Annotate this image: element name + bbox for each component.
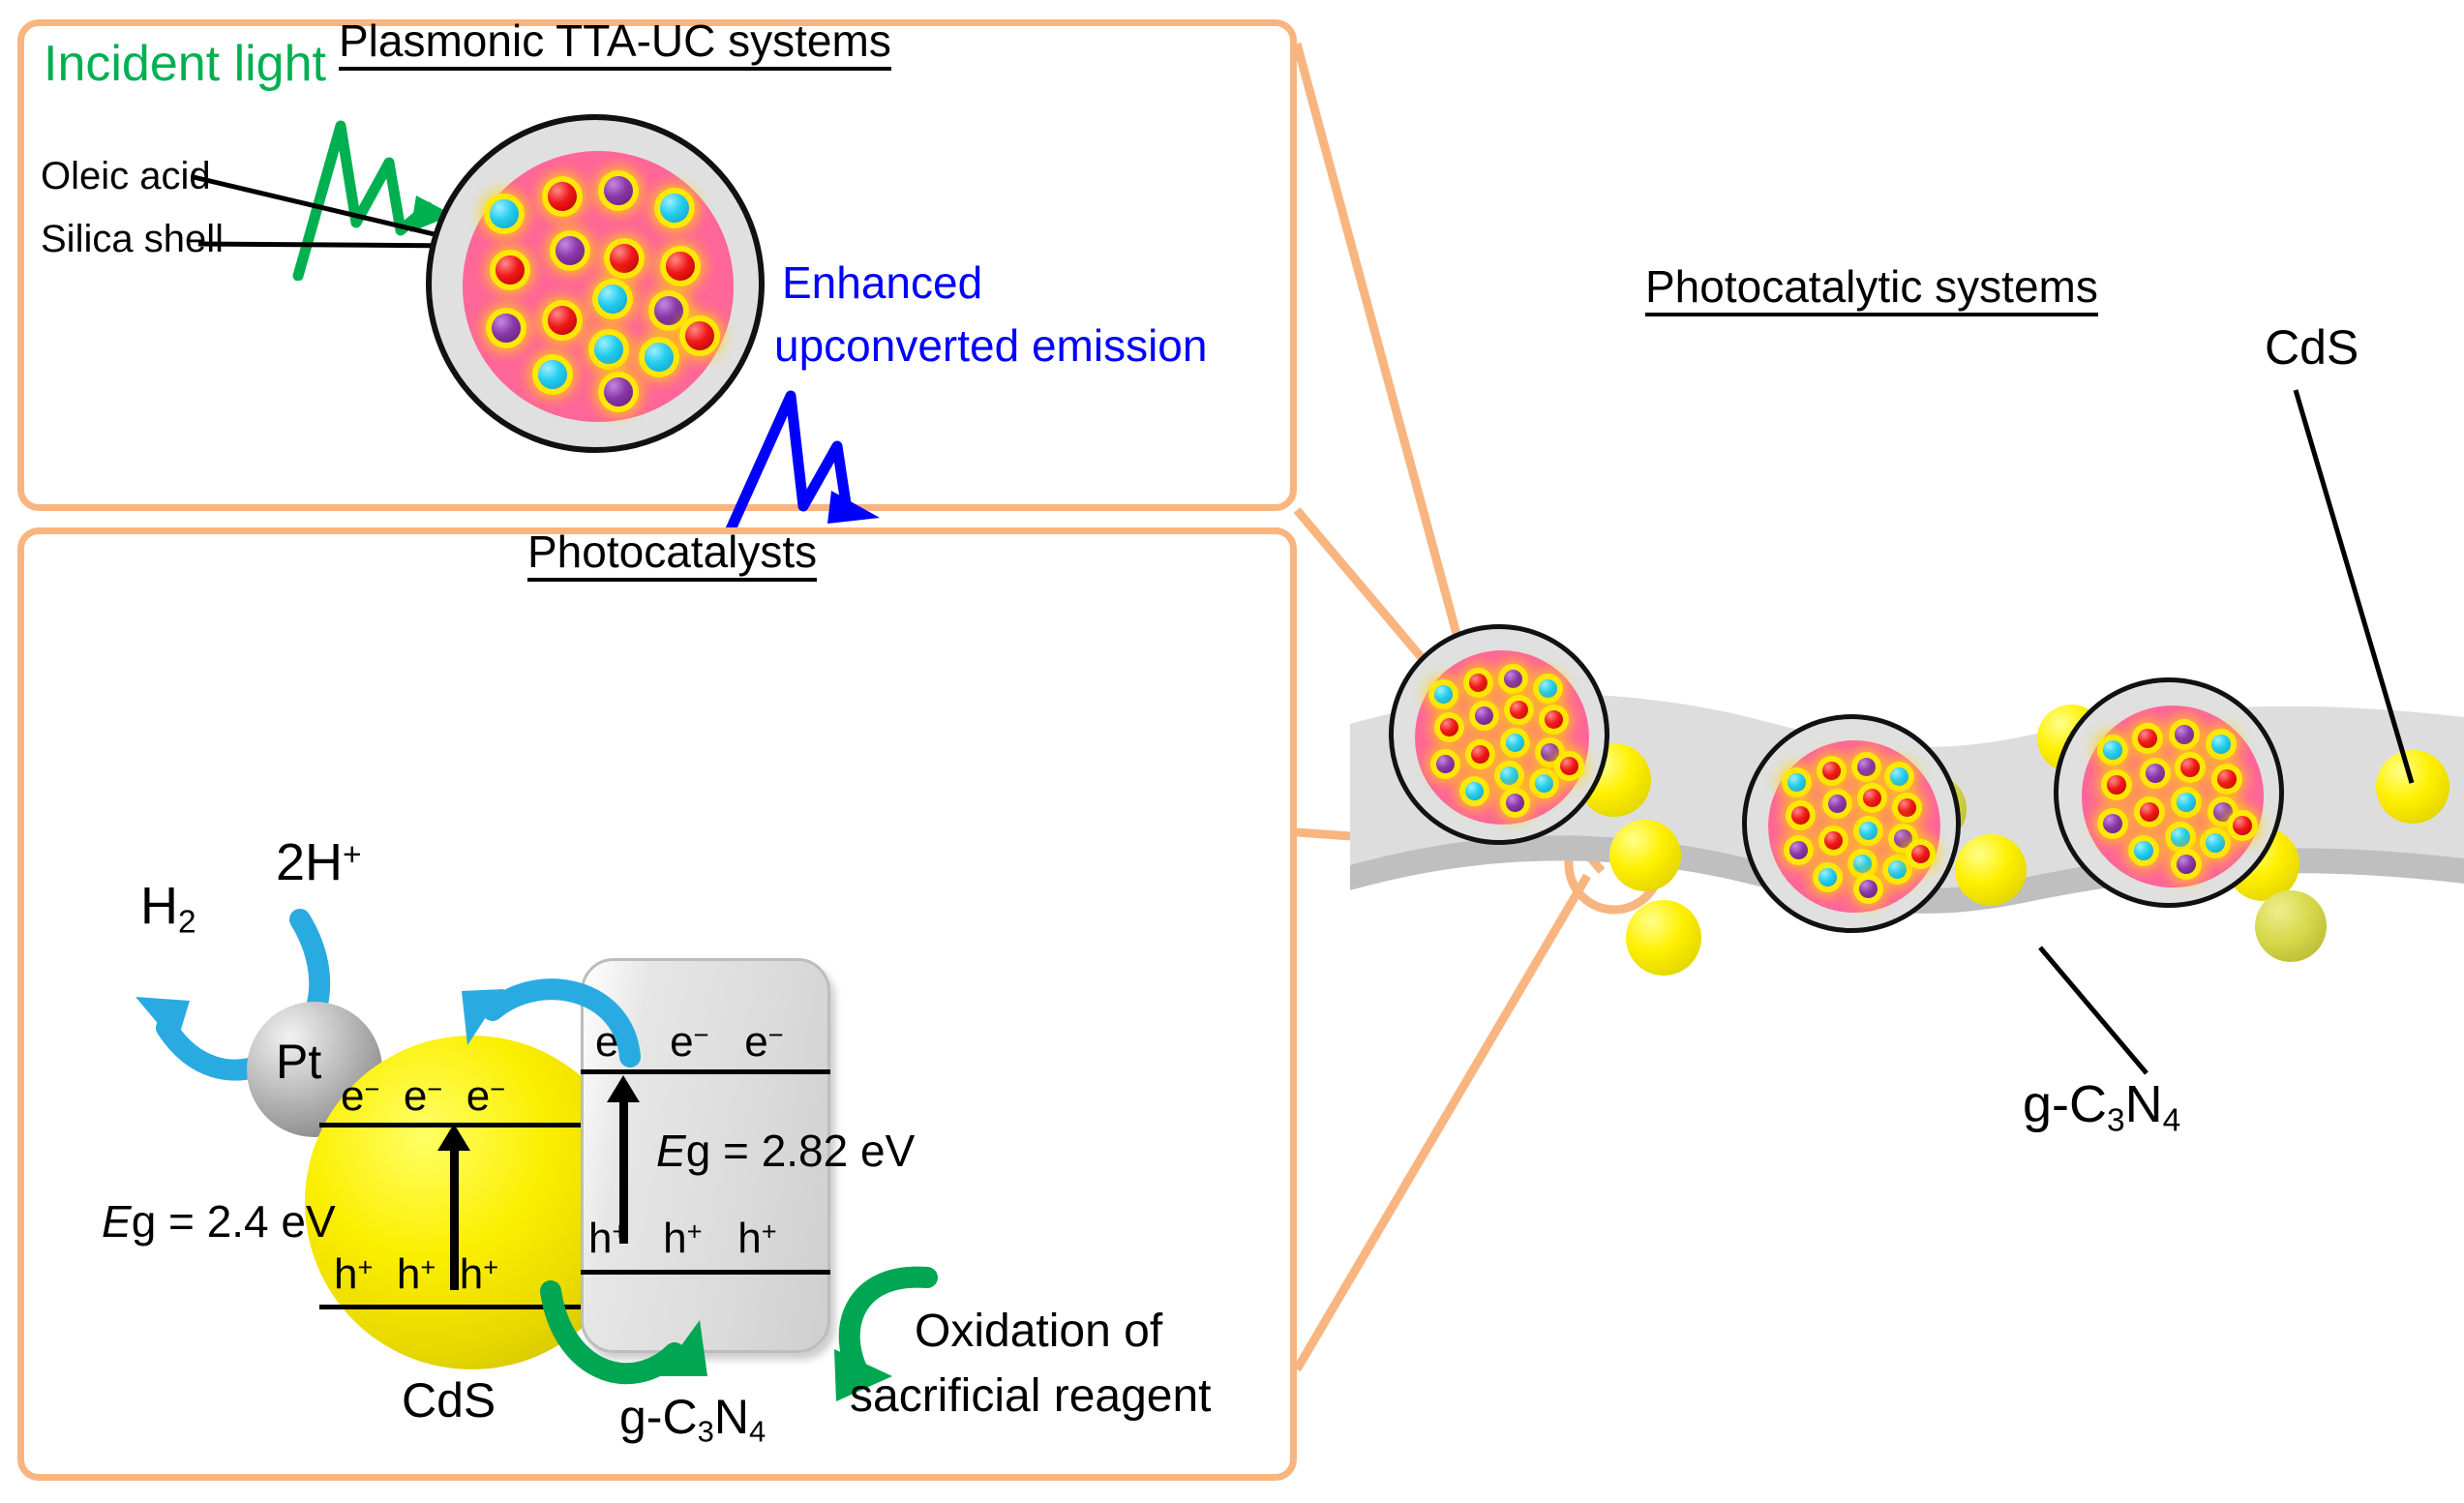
- dpa-dot: [1853, 855, 1872, 873]
- nanoparticle-core: [463, 151, 734, 422]
- ptoep-dot: [2180, 758, 2200, 777]
- proton-coefficient: 2H: [276, 833, 343, 891]
- gold-dot: [1506, 794, 1524, 812]
- ptoep-dot: [1824, 831, 1843, 850]
- ptoep-dot: [1911, 845, 1930, 863]
- dpa-dot: [2206, 833, 2225, 853]
- dpa-dot: [490, 199, 519, 228]
- cds-bandgap-label: Eg = 2.4 eV: [102, 1195, 336, 1247]
- oxidation-line1: Oxidation of: [915, 1305, 1162, 1358]
- ptoep-dot: [1469, 674, 1487, 692]
- ptoep-dot: [1560, 757, 1578, 775]
- nanoparticle-core: [2082, 706, 2264, 887]
- dpa-dot: [2211, 735, 2231, 754]
- dpa-dot: [1890, 767, 1908, 786]
- gold-dot: [1857, 758, 1876, 776]
- dpa-dot: [1434, 685, 1453, 704]
- gcn-callout-leader: [2032, 944, 2226, 1079]
- cds-callout-label: CdS: [2265, 319, 2359, 376]
- dpa-dot: [1535, 774, 1553, 793]
- figure-canvas: Plasmonic TTA-UC systems Incident light …: [0, 0, 2464, 1503]
- gold-dot: [604, 377, 633, 406]
- electron-symbol: e: [404, 1072, 427, 1120]
- gold-dot: [1894, 829, 1912, 848]
- silica-nanoparticle-sheet-1: [1389, 624, 1609, 845]
- dpa-dot: [2103, 740, 2122, 760]
- panel-title-photocatalytic-systems: Photocatalytic systems: [1645, 263, 2098, 316]
- gcn-callout-label: g-C3N4: [2023, 1074, 2180, 1139]
- gold-dot: [1436, 755, 1455, 773]
- hole-symbol: h: [737, 1215, 761, 1262]
- dpa-dot: [538, 360, 567, 389]
- proton-label: 2H+: [276, 832, 362, 892]
- dpa-dot: [660, 194, 689, 223]
- ptoep-dot: [2138, 729, 2157, 748]
- gold-dot: [1859, 880, 1878, 898]
- gold-dot: [2175, 725, 2194, 744]
- electron-symbol: e: [670, 1018, 693, 1066]
- dpa-dot: [645, 343, 674, 372]
- dpa-dot: [1465, 782, 1484, 800]
- ptoep-dot: [1791, 806, 1810, 825]
- proton-superscript: +: [343, 837, 362, 873]
- gold-dot: [654, 296, 683, 325]
- enhanced-emission-line1: Enhanced: [782, 256, 982, 309]
- cds-sphere-label: CdS: [402, 1372, 496, 1428]
- ptoep-dot: [1898, 798, 1916, 817]
- gold-dot: [556, 236, 585, 265]
- ptoep-dot: [2217, 769, 2237, 789]
- cds-bandgap-arrow: [450, 1147, 459, 1290]
- gcn-valence-band: [581, 1270, 830, 1275]
- silica-nanoparticle-sheet-2: [1742, 714, 1961, 933]
- cds-callout-leader: [2284, 382, 2458, 789]
- ptoep-dot: [548, 306, 577, 335]
- ptoep-dot: [1471, 745, 1489, 764]
- gold-dot: [2177, 855, 2196, 874]
- electron-transfer-arrows: [440, 948, 673, 1094]
- ptoep-dot: [2107, 775, 2126, 795]
- dpa-dot: [594, 335, 623, 364]
- ptoep-dot: [2233, 816, 2252, 835]
- gold-dot: [1475, 706, 1493, 725]
- enhanced-emission-line2: upconverted emission: [774, 319, 1207, 372]
- hole-symbol: h: [397, 1250, 420, 1298]
- cds-particle: [1609, 820, 1681, 891]
- incident-light-label: Incident light: [44, 35, 326, 93]
- ptoep-dot: [1440, 718, 1458, 736]
- dpa-dot: [1888, 860, 1907, 879]
- ptoep-dot: [496, 256, 525, 285]
- ptoep-dot: [685, 321, 714, 350]
- gold-dot: [492, 314, 521, 343]
- hole-symbol: h: [663, 1215, 686, 1262]
- ptoep-dot: [1510, 701, 1528, 719]
- gcn-bandgap-arrow: [619, 1098, 628, 1244]
- ptoep-dot: [1822, 762, 1841, 780]
- nanoparticle-core: [1768, 740, 1940, 913]
- dpa-dot: [2134, 841, 2153, 860]
- dpa-dot: [1500, 767, 1518, 785]
- cds-particle: [1626, 900, 1701, 976]
- dpa-dot: [1539, 679, 1557, 698]
- hole-symbol: h: [460, 1250, 483, 1298]
- gold-dot: [2213, 802, 2233, 822]
- upconverted-emission-arrow: [721, 382, 915, 542]
- nanoparticle-core: [1415, 650, 1589, 825]
- cds-particle: [2255, 890, 2327, 962]
- ptoep-dot: [548, 182, 577, 211]
- panel-title-tta-uc: Plasmonic TTA-UC systems: [339, 17, 891, 71]
- gcn-hole-row: h+ h+ h+: [588, 1215, 777, 1263]
- platinum-label: Pt: [276, 1034, 321, 1090]
- gold-dot: [2103, 814, 2122, 833]
- silica-nanoparticle-sheet-3: [2054, 677, 2284, 908]
- panel-title-photocatalysts: Photocatalysts: [527, 528, 817, 582]
- gold-dot: [604, 176, 633, 205]
- dpa-dot: [1859, 822, 1878, 840]
- gold-dot: [1504, 670, 1522, 688]
- cds-particle: [1955, 834, 2027, 906]
- dpa-dot: [1506, 734, 1524, 752]
- gcn-bandgap-label: Eg = 2.82 eV: [656, 1125, 915, 1177]
- electron-symbol: e: [744, 1018, 767, 1066]
- gold-dot: [1828, 795, 1847, 813]
- ptoep-dot: [666, 252, 695, 281]
- ptoep-dot: [1545, 710, 1563, 729]
- gold-dot: [2146, 764, 2165, 783]
- hole-symbol: h: [334, 1250, 357, 1298]
- ptoep-dot: [2140, 802, 2159, 822]
- electron-symbol: e: [341, 1072, 364, 1120]
- ptoep-dot: [610, 244, 639, 273]
- dpa-dot: [2177, 793, 2196, 812]
- hole-symbol: h: [588, 1215, 612, 1262]
- hole-transfer-arrow: [527, 1278, 740, 1442]
- dpa-dot: [2171, 827, 2190, 847]
- dpa-dot: [598, 285, 627, 314]
- oxidation-line2: sacrificial reagent: [850, 1369, 1212, 1423]
- oleic-acid-label: Oleic acid: [41, 155, 211, 198]
- ptoep-dot: [1863, 789, 1881, 807]
- gold-dot: [1541, 743, 1559, 762]
- cds-hole-row: h+ h+ h+: [334, 1250, 498, 1299]
- silica-nanoparticle-main: [426, 114, 765, 453]
- dpa-dot: [1818, 868, 1837, 887]
- dpa-dot: [1788, 773, 1806, 792]
- gold-dot: [1789, 841, 1808, 859]
